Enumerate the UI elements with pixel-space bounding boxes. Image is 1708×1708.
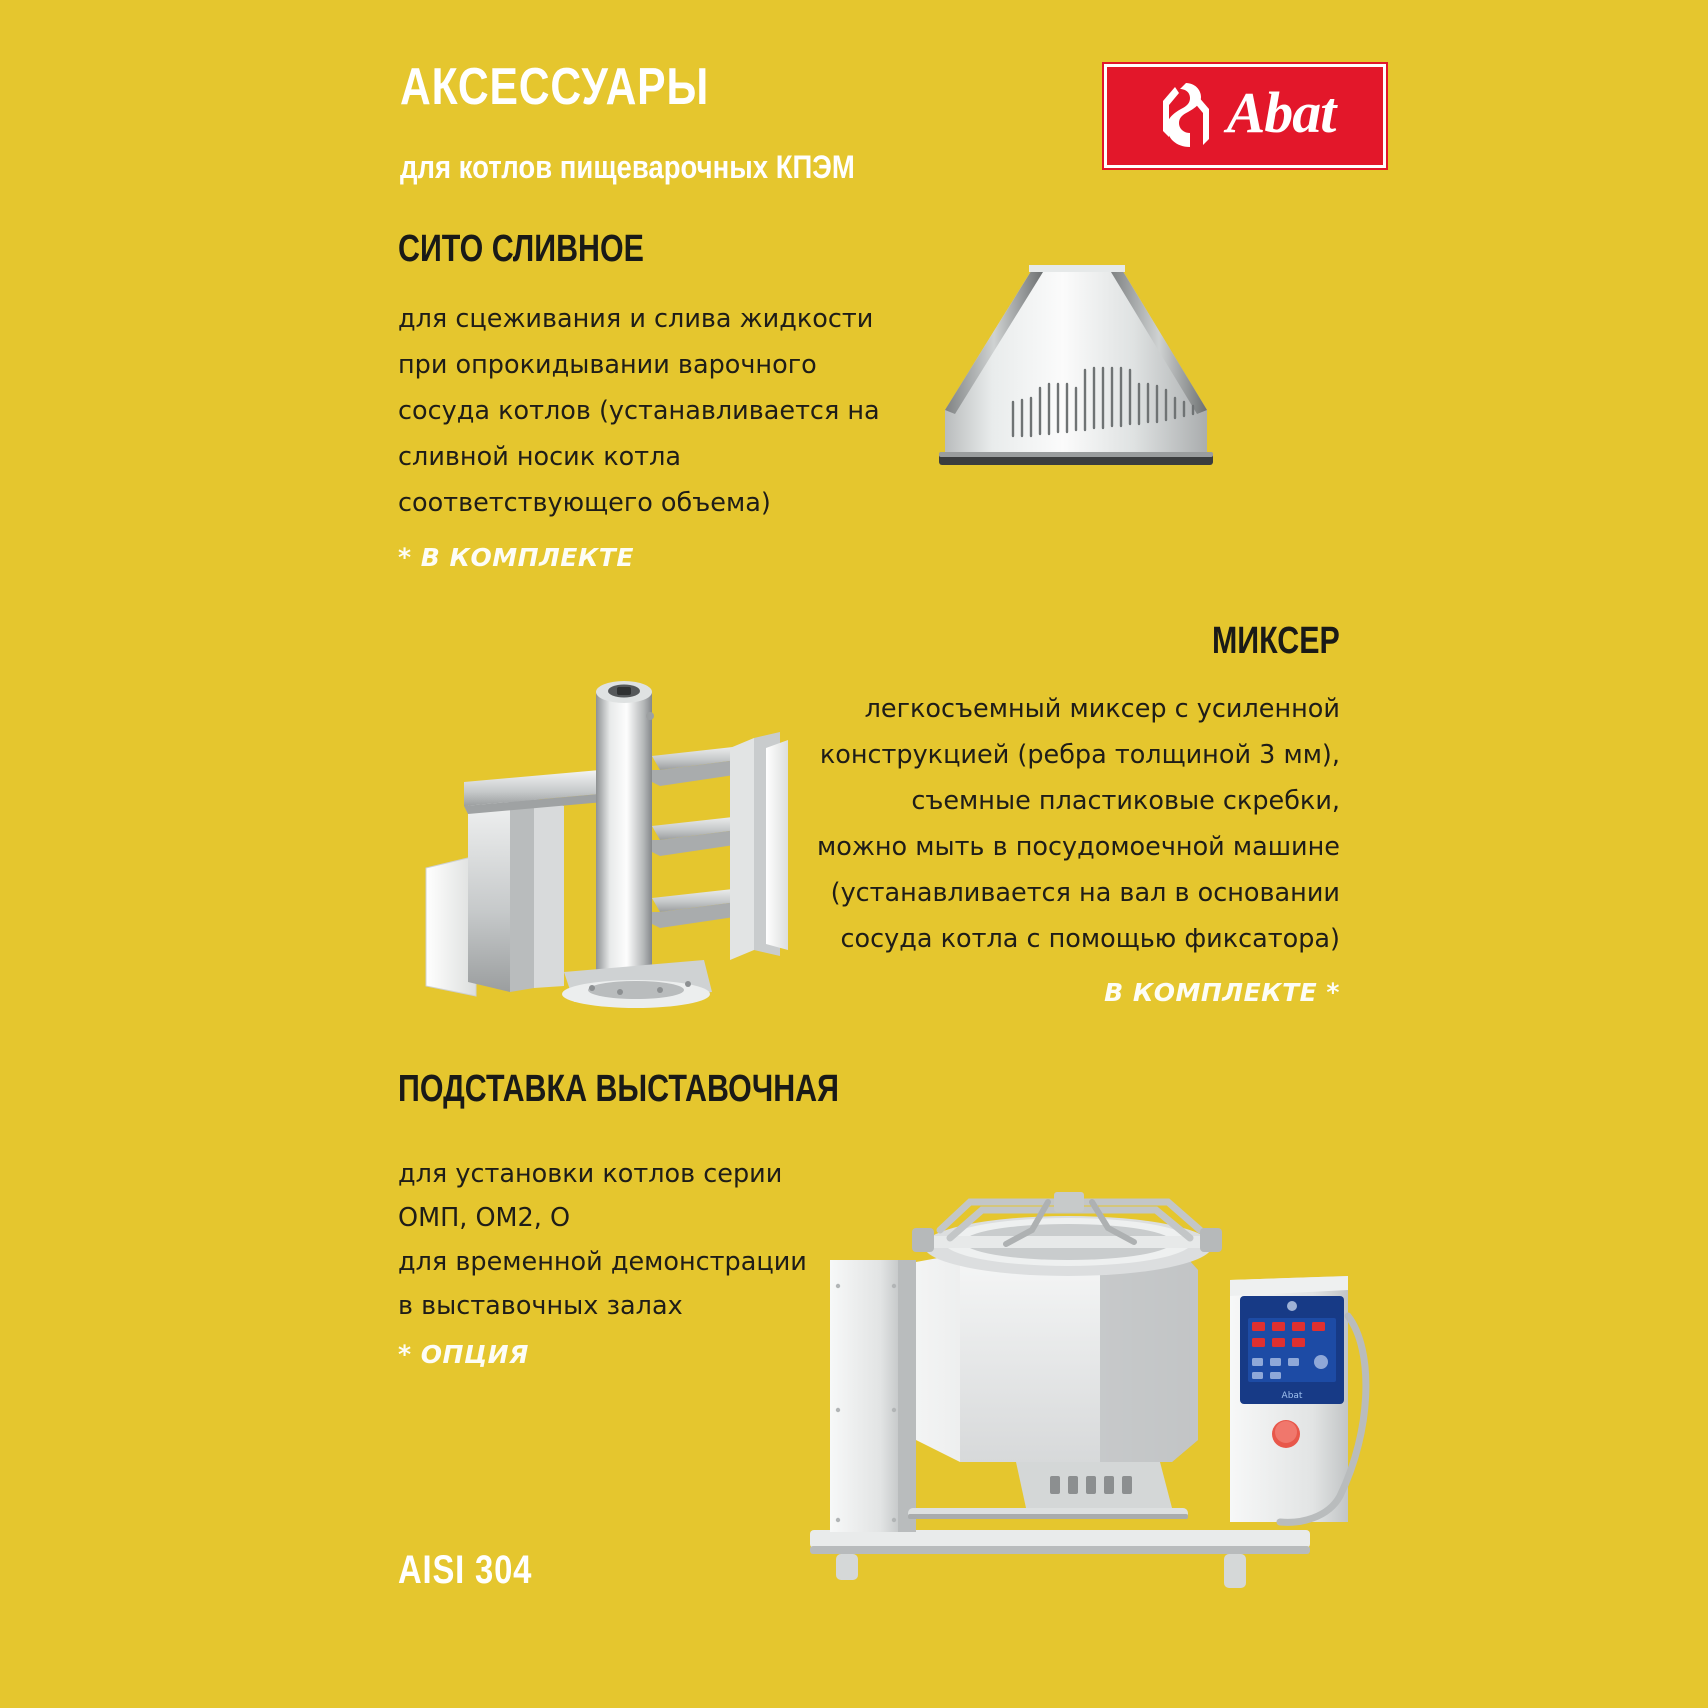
body-line: (устанавливается на вал в основании — [760, 870, 1340, 916]
body-line: можно мыть в посудомоечной машине — [760, 824, 1340, 870]
body-line: соответствующего объема) — [398, 480, 918, 526]
exhibition-stand-photo: Abat — [800, 1110, 1380, 1610]
abat-wordmark: Abat — [1227, 84, 1336, 148]
mixer-photo — [368, 620, 788, 1010]
section-title-mixer: МИКСЕР — [1212, 620, 1340, 663]
section-body-stand: для установки котлов серии ОМП, ОМ2, О д… — [398, 1152, 858, 1328]
body-line: сосуда котлов (устанавливается на — [398, 388, 918, 434]
body-line: для временной демонстрации — [398, 1240, 858, 1284]
section-title-sieve: СИТО СЛИВНОЕ — [398, 228, 644, 271]
section-body-mixer: легкосъемный миксер с усиленной конструк… — [760, 686, 1340, 962]
body-line: легкосъемный миксер с усиленной — [760, 686, 1340, 732]
page-title: АКСЕССУАРЫ — [400, 58, 1138, 116]
body-line: в выставочных залах — [398, 1284, 858, 1328]
abat-logo: Abat — [1104, 64, 1386, 168]
body-line: для установки котлов серии — [398, 1152, 858, 1196]
body-line: конструкцией (ребра толщиной 3 мм), — [760, 732, 1340, 778]
abat-s-mark-icon — [1155, 79, 1217, 153]
section-note-stand: * ОПЦИЯ — [398, 1340, 529, 1369]
section-note-mixer: В КОМПЛЕКТЕ * — [1104, 978, 1340, 1007]
body-line: сливной носик котла — [398, 434, 918, 480]
body-line: съемные пластиковые скребки, — [760, 778, 1340, 824]
body-line: сосуда котла с помощью фиксатора) — [760, 916, 1340, 962]
drain-sieve-photo — [925, 238, 1315, 488]
section-body-sieve: для сцеживания и слива жидкости при опро… — [398, 296, 918, 526]
section-note-sieve: * В КОМПЛЕКТЕ — [398, 543, 634, 572]
body-line: при опрокидывании варочного — [398, 342, 918, 388]
body-line: для сцеживания и слива жидкости — [398, 296, 918, 342]
svg-text:Abat: Abat — [1282, 1391, 1303, 1401]
poster-canvas: АКСЕССУАРЫ для котлов пищеварочных КПЭМ … — [0, 0, 1708, 1708]
body-line: ОМП, ОМ2, О — [398, 1196, 858, 1240]
material-grade-label: AISI 304 — [398, 1548, 532, 1593]
section-title-stand: ПОДСТАВКА ВЫСТАВОЧНАЯ — [398, 1068, 839, 1111]
page-subtitle: для котлов пищеварочных КПЭМ — [400, 148, 1174, 186]
